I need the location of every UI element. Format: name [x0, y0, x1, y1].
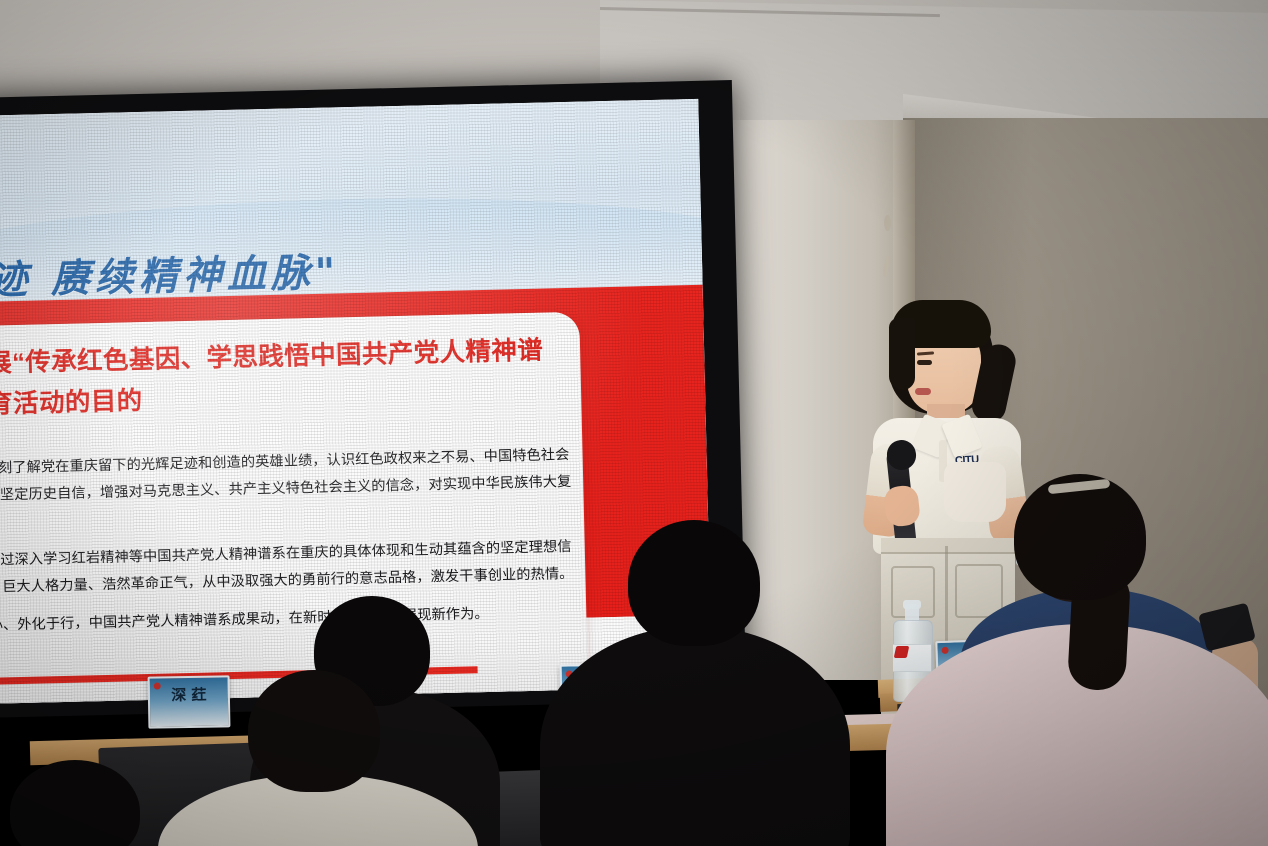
- audience-torso: [540, 626, 850, 846]
- slide-paragraph: 汲取奋进力量：通过深入学习红岩精神等中国共产党人精神谱系在重庆的具体体现和生动其…: [0, 534, 586, 605]
- audience-member: [0, 760, 200, 846]
- slide-heading: 展“传承红色基因、学思践悟中国共产党人精神谱 育活动的目的: [0, 330, 563, 426]
- lecture-photo-scene: 红岩足迹 赓续精神血脉" 展“传承红色基因、学思践悟中国共产党人精神谱 育活动的…: [0, 0, 1268, 846]
- presenter-hand-left: [883, 484, 921, 527]
- audience-member: [170, 670, 460, 846]
- audience-member: [930, 474, 1250, 846]
- audience-member: [556, 520, 826, 846]
- presenter-hair-side: [889, 318, 915, 390]
- bottle-label-mark-icon: [894, 646, 910, 658]
- presenter-eye: [917, 360, 932, 365]
- slide-paragraph: 筑牢信仰之基：深刻了解党在重庆留下的光辉足迹和创造的英雄业绩，认识红色政权来之不…: [0, 442, 584, 540]
- paragraph-text: 通过深入学习红岩精神等中国共产党人精神谱系在重庆的具体体现和生动其蕴含的坚定理想…: [0, 539, 574, 598]
- audience-head: [248, 670, 380, 792]
- presenter-lips: [915, 388, 931, 395]
- audience-head: [1014, 474, 1146, 600]
- audience-head: [628, 520, 760, 646]
- paragraph-text: 深刻了解党在重庆留下的光辉足迹和创造的英雄业绩，认识红色政权来之不易、中国特色社…: [0, 447, 571, 533]
- audience-head: [10, 760, 140, 846]
- pillar-scuff-icon: [884, 215, 891, 231]
